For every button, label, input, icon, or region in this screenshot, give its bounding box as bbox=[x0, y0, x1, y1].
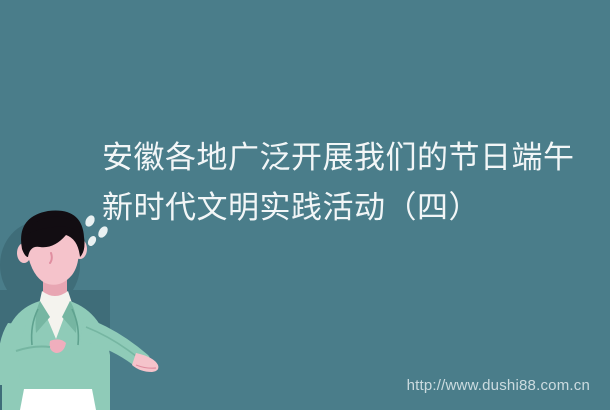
watermark-url: http://www.dushi88.com.cn bbox=[407, 377, 590, 394]
hand bbox=[132, 353, 158, 372]
poster-canvas: 安徽各地广泛开展我们的节日端午 新时代文明实践活动（四） http://www.… bbox=[0, 0, 610, 410]
pants bbox=[20, 389, 96, 410]
person-pointing-illustration bbox=[0, 205, 210, 410]
title-line-2: 新时代文明实践活动（四） bbox=[102, 183, 592, 233]
title-line-1: 安徽各地广泛开展我们的节日端午 bbox=[102, 133, 592, 183]
page-title: 安徽各地广泛开展我们的节日端午 新时代文明实践活动（四） bbox=[102, 133, 592, 233]
